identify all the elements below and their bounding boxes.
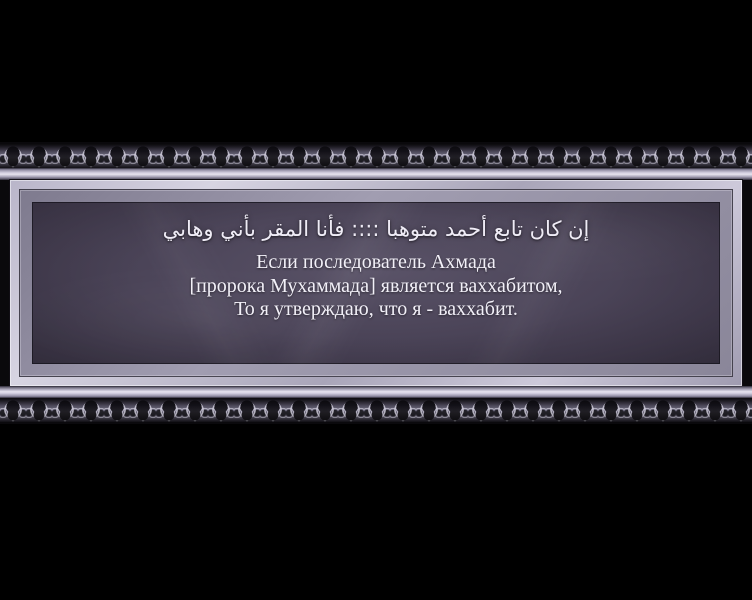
letterbox-bar-top — [0, 0, 752, 142]
ornament-band-top — [0, 144, 752, 168]
ornament-shading — [0, 398, 752, 422]
title-card: إن كان تابع أحمد متوهبا :::: فأنا المقر … — [0, 0, 752, 600]
ornament-shading — [0, 144, 752, 168]
quote-text-block: إن كان تابع أحمد متوهبا :::: فأنا المقر … — [32, 202, 720, 364]
frame-inner-bevel: إن كان تابع أحمد متوهبا :::: فأنا المقر … — [19, 189, 733, 377]
russian-translation-line-1: Если последователь Ахмада — [256, 251, 496, 274]
russian-translation-line-3: То я утверждаю, что я - ваххабит. — [234, 298, 518, 321]
arabic-quote-line: إن كان تابع أحمد متوهبا :::: فأنا المقر … — [163, 216, 590, 242]
picture-frame: إن كان تابع أحمد متوهبا :::: فأنا المقر … — [10, 180, 742, 386]
ornament-band-bottom — [0, 398, 752, 422]
moulding-bottom — [0, 386, 752, 398]
letterbox-bar-bottom — [0, 424, 752, 600]
ornate-banner: إن كان تابع أحمد متوهبا :::: فأنا المقر … — [0, 142, 752, 424]
text-panel: إن كان تابع أحمد متوهبا :::: فأنا المقر … — [32, 202, 720, 364]
russian-translation-line-2: [пророка Мухаммада] является ваххабитом, — [189, 275, 562, 298]
moulding-top — [0, 168, 752, 180]
